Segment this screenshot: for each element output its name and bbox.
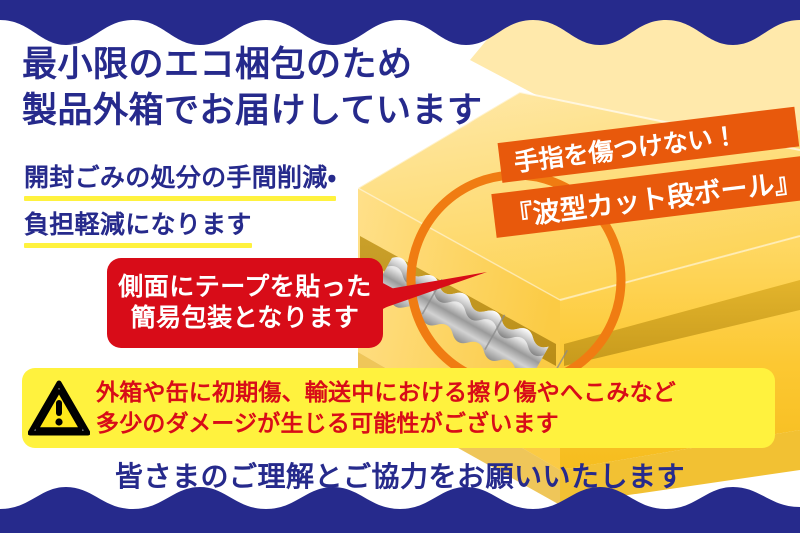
red-callout-line-2: 簡易包装となります [131,303,360,334]
red-callout: 側面にテープを貼った 簡易包装となります [107,258,383,348]
subtext-line-1: 開封ごみの処分の手間削減・ [24,160,336,199]
eco-packaging-notice-banner: 最小限のエコ梱包のため 製品外箱でお届けしています 開封ごみの処分の手間削減・ … [0,0,800,533]
red-callout-line-1: 側面にテープを貼った [118,272,372,303]
red-callout-tail [381,282,407,310]
subtext: 開封ごみの処分の手間削減・ 負担軽減になります [24,160,454,254]
warning-line-1: 外箱や缶に初期傷、輸送中における擦り傷やへこみなど [96,377,676,408]
subtext-line-2: 負担軽減になります [24,207,252,246]
subtext-row-2: 負担軽減になります [24,207,454,246]
headline-line-1: 最小限のエコ梱包のため [22,42,582,88]
headline: 最小限のエコ梱包のため 製品外箱でお届けしています [22,42,582,134]
closing-message: 皆さまのご理解とご協力をお願いいたします [0,455,800,495]
warning-box: 外箱や缶に初期傷、輸送中における擦り傷やへこみなど 多少のダメージが生じる可能性… [22,368,775,448]
warning-text: 外箱や缶に初期傷、輸送中における擦り傷やへこみなど 多少のダメージが生じる可能性… [96,377,676,439]
headline-line-2: 製品外箱でお届けしています [22,88,582,134]
warning-triangle-icon [22,380,96,436]
subtext-row-1: 開封ごみの処分の手間削減・ [24,160,454,199]
warning-line-2: 多少のダメージが生じる可能性がございます [96,408,676,439]
